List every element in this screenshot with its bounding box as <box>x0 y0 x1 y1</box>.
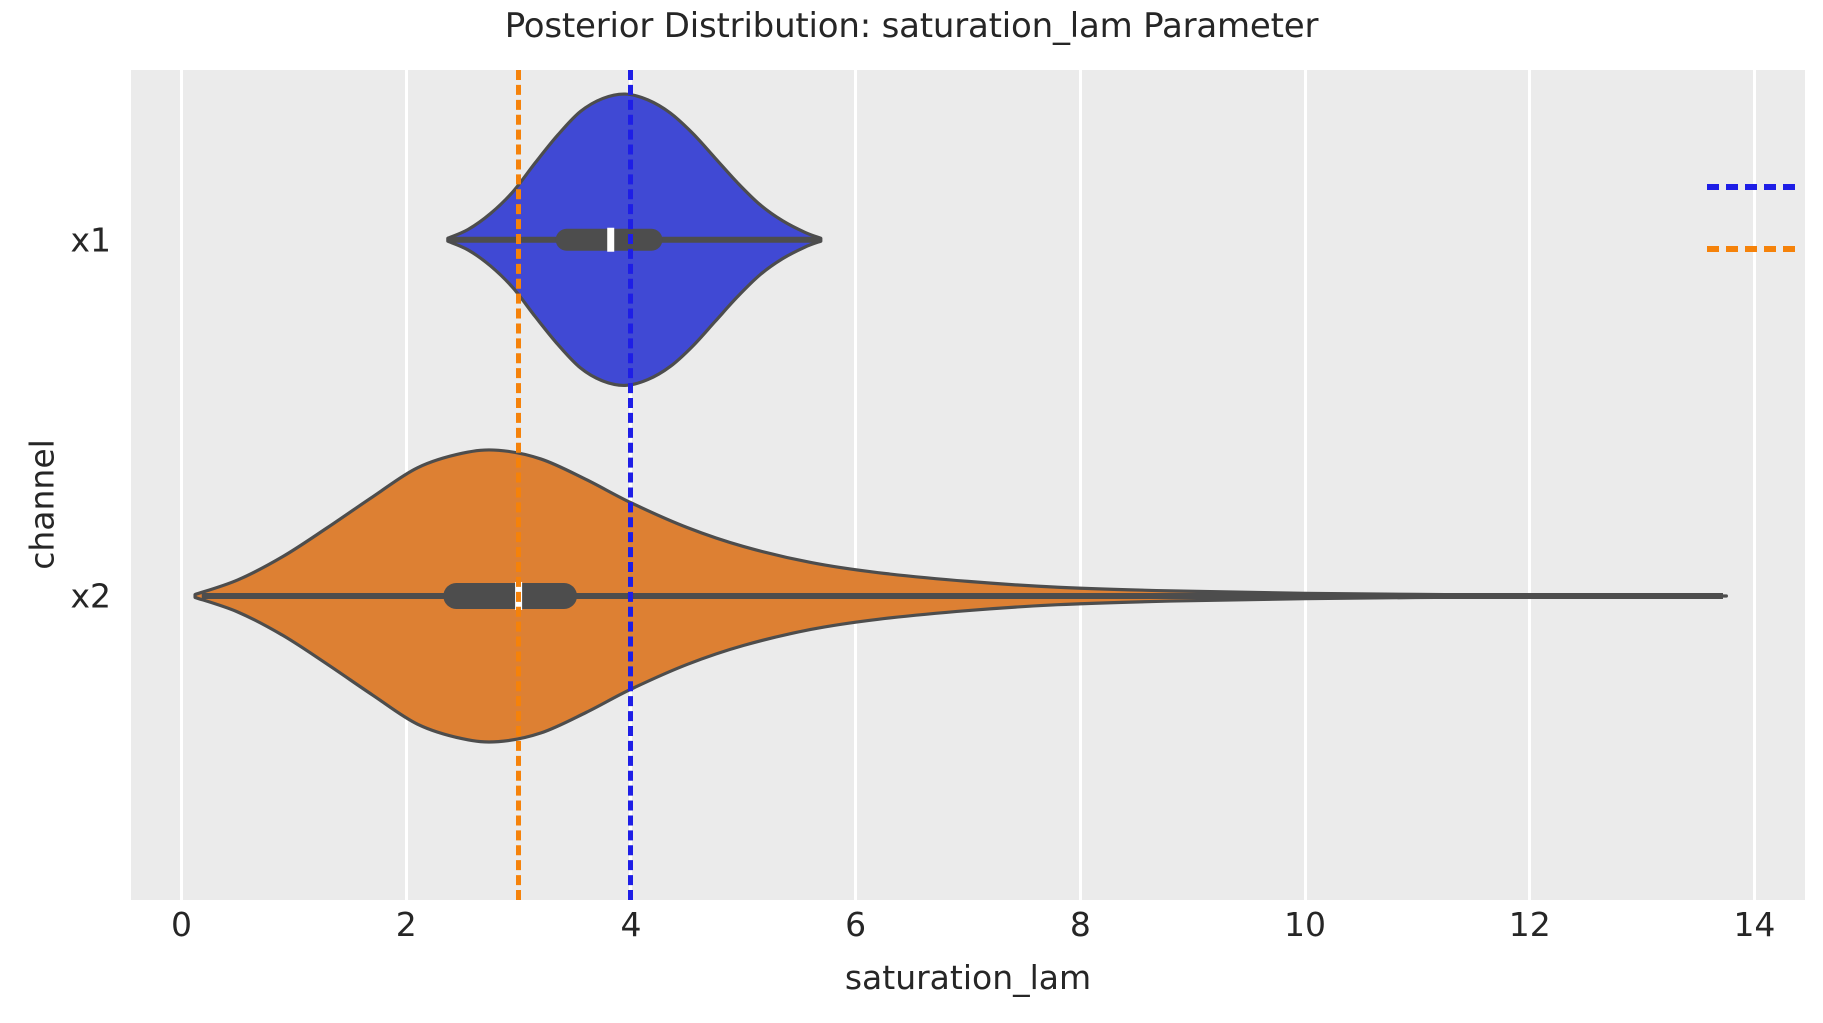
legend-item-lambda-2[interactable]: λ2 <box>1689 218 1805 280</box>
lambda-2-reference-line <box>516 70 521 900</box>
legend-dash-icon-lambda-2 <box>1707 246 1795 252</box>
plot-area: λ1 λ2 <box>131 70 1805 900</box>
iqr-box-x2 <box>443 583 577 609</box>
x-tick-label-14: 14 <box>1733 905 1775 944</box>
violin-x2[interactable] <box>195 450 1726 742</box>
y-axis-tick-labels: x1x2 <box>0 70 125 900</box>
x-tick-label-4: 4 <box>620 905 641 944</box>
violin-plot-canvas <box>131 70 1805 900</box>
chart-title: Posterior Distribution: saturation_lam P… <box>0 6 1823 46</box>
chart-figure: Posterior Distribution: saturation_lam P… <box>0 0 1823 1023</box>
chart-legend: λ1 λ2 <box>1689 148 1805 290</box>
x-tick-label-10: 10 <box>1284 905 1326 944</box>
x-tick-label-2: 2 <box>396 905 417 944</box>
x-tick-label-8: 8 <box>1070 905 1091 944</box>
violin-x1[interactable] <box>448 94 821 385</box>
legend-item-lambda-1[interactable]: λ1 <box>1689 156 1805 218</box>
x-axis-tick-labels: 02468101214 <box>131 905 1805 955</box>
lambda-1-reference-line <box>628 70 633 900</box>
x-tick-label-12: 12 <box>1509 905 1551 944</box>
x-axis-label: saturation_lam <box>131 958 1805 997</box>
y-tick-label-x2: x2 <box>70 576 111 615</box>
y-tick-label-x1: x1 <box>70 220 111 259</box>
median-marker-x1 <box>607 228 614 252</box>
legend-dash-icon-lambda-1 <box>1707 184 1795 190</box>
y-axis-label: channel <box>23 355 62 655</box>
x-tick-label-6: 6 <box>845 905 866 944</box>
x-tick-label-0: 0 <box>171 905 192 944</box>
